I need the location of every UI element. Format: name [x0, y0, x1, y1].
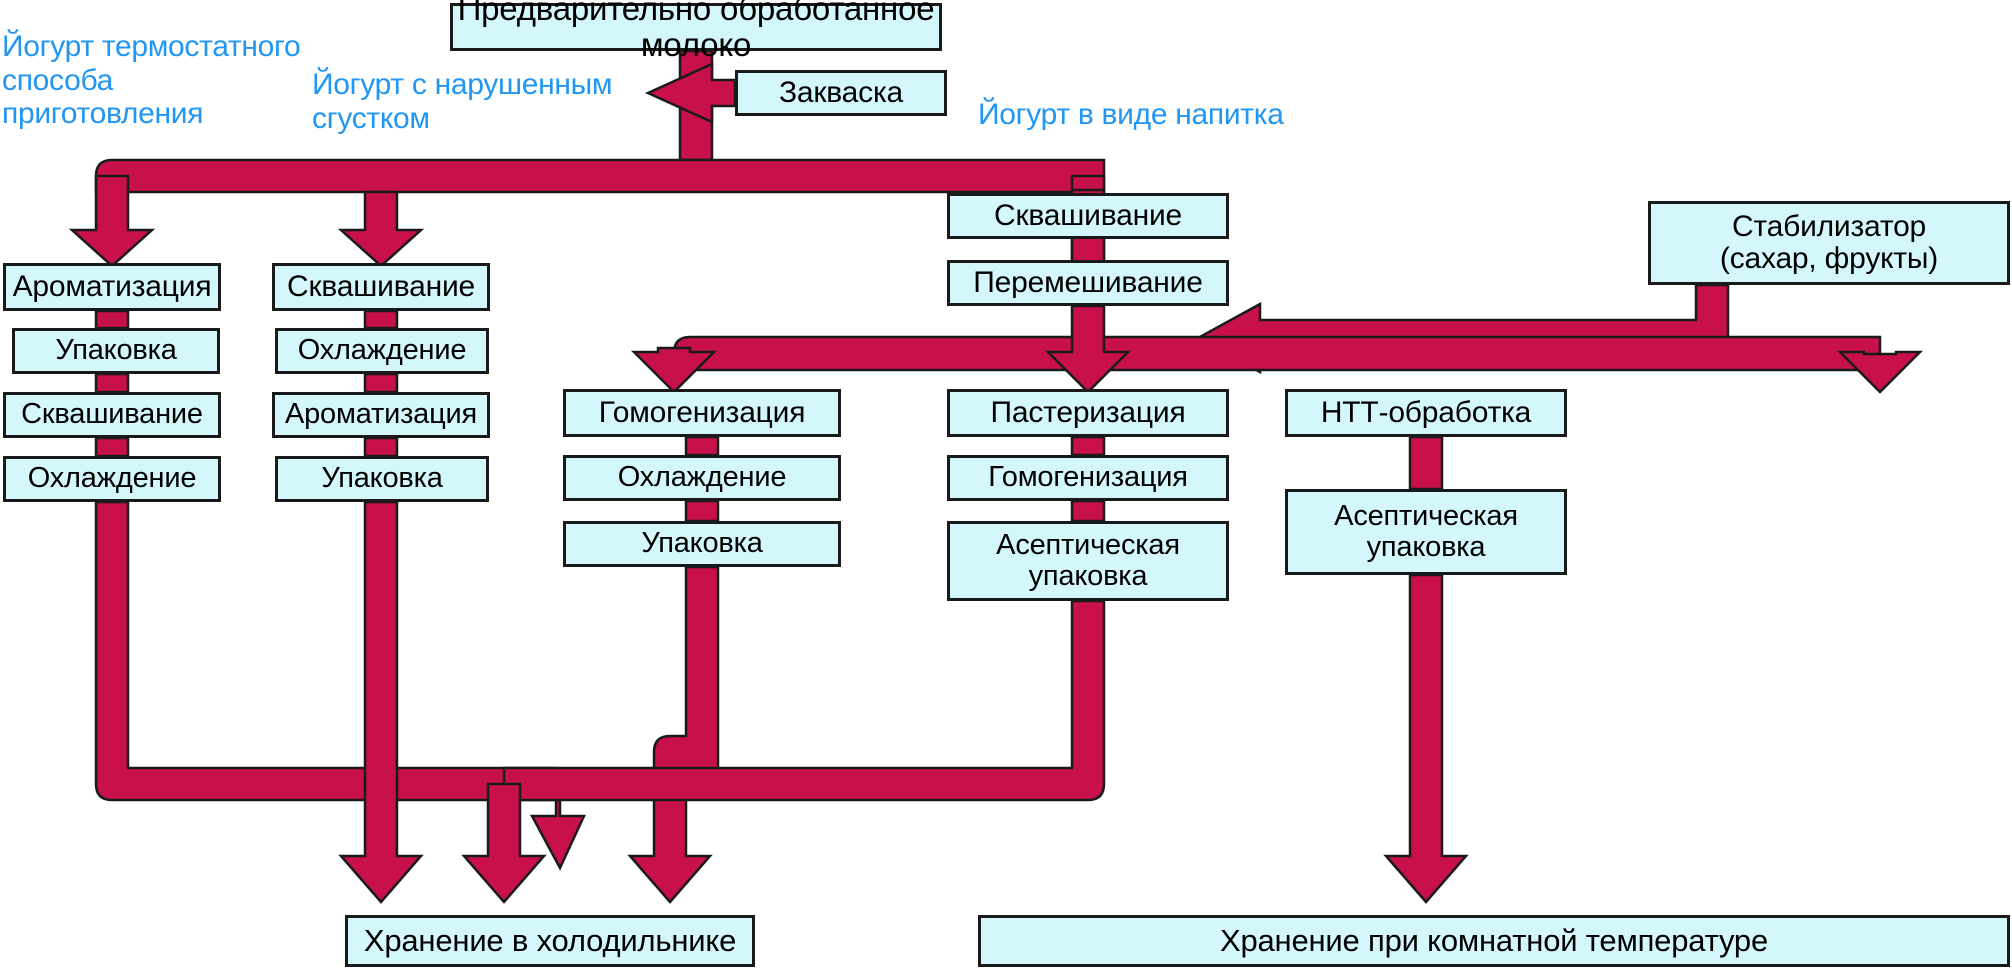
- node-fridge-storage[interactable]: Хранение в холодильнике: [345, 915, 755, 967]
- flow-c4-link-1: [1072, 437, 1104, 455]
- flow-mixing-distribution-bar: [674, 337, 1880, 370]
- flow-mixing-to-col5-arrow: [1840, 352, 1920, 392]
- node-preprocessed-milk[interactable]: Предварительно обработанное молоко: [450, 3, 942, 51]
- node-c1-fermentation[interactable]: Сквашивание: [3, 392, 221, 438]
- flowchart-canvas: Предварительно обработанное молоко Заква…: [0, 0, 2012, 976]
- node-c2-fermentation[interactable]: Сквашивание: [272, 263, 490, 311]
- caption-thermostat-yogurt: Йогурт термостатного способа приготовлен…: [2, 30, 300, 131]
- node-starter-culture[interactable]: Закваска: [735, 70, 947, 116]
- flow-col4-fridge-arrow: [464, 784, 544, 902]
- flow-c1-link-1: [96, 311, 128, 328]
- flow-c2-link-3: [365, 438, 397, 456]
- flow-starter-to-trunk: [648, 64, 735, 122]
- node-stabilizer[interactable]: Стабилизатор (сахар, фрукты): [1648, 201, 2010, 285]
- node-c4-fermentation[interactable]: Сквашивание: [947, 193, 1229, 239]
- flow-col3-to-fridge: [630, 567, 718, 902]
- node-c2-packaging[interactable]: Упаковка: [275, 456, 489, 502]
- flow-c2-link-2: [365, 374, 397, 392]
- node-c5-utt-treatment[interactable]: НТТ-обработка: [1285, 389, 1567, 437]
- flow-c4-link-2: [1072, 501, 1104, 521]
- flow-col2-to-fridge: [341, 502, 421, 902]
- flow-c3-link-1: [686, 437, 718, 455]
- flow-c5-link-1: [1410, 437, 1442, 489]
- node-room-temp-storage[interactable]: Хранение при комнатной температуре: [978, 915, 2010, 967]
- node-c2-flavoring[interactable]: Ароматизация: [272, 392, 490, 438]
- caption-drinking-yogurt: Йогурт в виде напитка: [978, 98, 1284, 132]
- flow-distribution-bar: [96, 160, 1104, 192]
- caption-broken-clot-yogurt: Йогурт с нарушенным сгустком: [312, 68, 612, 135]
- node-c3-cooling[interactable]: Охлаждение: [563, 455, 841, 501]
- node-c5-aseptic-packaging[interactable]: Асептическая упаковка: [1285, 489, 1567, 575]
- flow-trunk-to-col2: [341, 192, 421, 266]
- flow-c1-link-2: [96, 374, 128, 392]
- node-c4-aseptic-packaging[interactable]: Асептическая упаковка: [947, 521, 1229, 601]
- node-c4-pasteurization[interactable]: Пастеризация: [947, 389, 1229, 437]
- flow-col5-to-room: [1386, 575, 1466, 902]
- node-c2-cooling[interactable]: Охлаждение: [275, 328, 489, 374]
- node-c4-mixing[interactable]: Перемешивание: [947, 260, 1229, 306]
- node-c1-cooling[interactable]: Охлаждение: [3, 456, 221, 502]
- flow-col4-to-fridge: [504, 601, 1104, 800]
- flow-c2-link-1: [365, 311, 397, 328]
- flow-c3-link-2: [686, 501, 718, 521]
- node-c1-packaging[interactable]: Упаковка: [12, 328, 220, 374]
- node-c3-homogenization[interactable]: Гомогенизация: [563, 389, 841, 437]
- node-c1-flavoring[interactable]: Ароматизация: [3, 263, 221, 311]
- node-c3-packaging[interactable]: Упаковка: [563, 521, 841, 567]
- flow-c1-link-3: [96, 438, 128, 456]
- node-c4-homogenization[interactable]: Гомогенизация: [947, 455, 1229, 501]
